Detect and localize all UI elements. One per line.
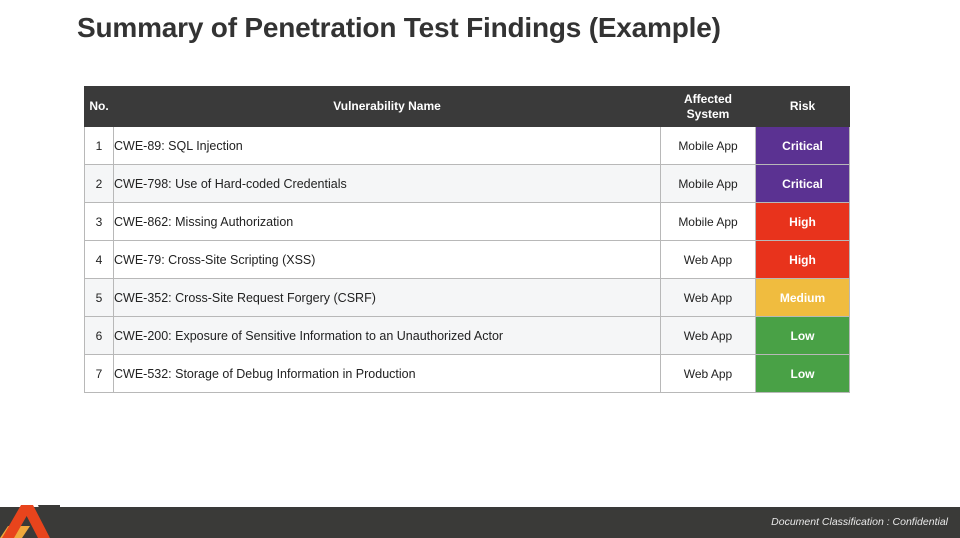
- table-row[interactable]: 4CWE-79: Cross-Site Scripting (XSS)Web A…: [85, 241, 850, 279]
- cell-affected-system: Web App: [661, 241, 756, 279]
- cell-affected-system: Web App: [661, 355, 756, 393]
- cell-vulnerability-name: CWE-200: Exposure of Sensitive Informati…: [114, 317, 661, 355]
- risk-badge: High: [756, 241, 850, 279]
- cell-no: 6: [85, 317, 114, 355]
- table-row[interactable]: 1CWE-89: SQL InjectionMobile AppCritical: [85, 127, 850, 165]
- table-header: No. Vulnerability Name Affected System R…: [85, 87, 850, 127]
- column-header-risk[interactable]: Risk: [756, 87, 850, 127]
- table-body: 1CWE-89: SQL InjectionMobile AppCritical…: [85, 127, 850, 393]
- findings-table-container: No. Vulnerability Name Affected System R…: [84, 86, 845, 393]
- column-header-affected-system-line2: System: [687, 107, 730, 121]
- cell-affected-system: Mobile App: [661, 127, 756, 165]
- table-header-row: No. Vulnerability Name Affected System R…: [85, 87, 850, 127]
- cell-vulnerability-name: CWE-89: SQL Injection: [114, 127, 661, 165]
- cell-no: 5: [85, 279, 114, 317]
- cell-vulnerability-name: CWE-79: Cross-Site Scripting (XSS): [114, 241, 661, 279]
- risk-badge: Low: [756, 355, 850, 393]
- column-header-affected-system[interactable]: Affected System: [661, 87, 756, 127]
- table-row[interactable]: 7CWE-532: Storage of Debug Information i…: [85, 355, 850, 393]
- cell-no: 7: [85, 355, 114, 393]
- cell-vulnerability-name: CWE-862: Missing Authorization: [114, 203, 661, 241]
- penetration-test-findings-table: No. Vulnerability Name Affected System R…: [84, 86, 850, 393]
- cell-affected-system: Mobile App: [661, 203, 756, 241]
- column-header-no[interactable]: No.: [85, 87, 114, 127]
- table-row[interactable]: 3CWE-862: Missing AuthorizationMobile Ap…: [85, 203, 850, 241]
- column-header-affected-system-line1: Affected: [684, 92, 732, 106]
- cell-vulnerability-name: CWE-798: Use of Hard-coded Credentials: [114, 165, 661, 203]
- column-header-vulnerability-name[interactable]: Vulnerability Name: [114, 87, 661, 127]
- cell-affected-system: Web App: [661, 279, 756, 317]
- table-row[interactable]: 6CWE-200: Exposure of Sensitive Informat…: [85, 317, 850, 355]
- cell-no: 1: [85, 127, 114, 165]
- cell-vulnerability-name: CWE-532: Storage of Debug Information in…: [114, 355, 661, 393]
- table-row[interactable]: 2CWE-798: Use of Hard-coded CredentialsM…: [85, 165, 850, 203]
- risk-badge: Critical: [756, 165, 850, 203]
- cell-affected-system: Mobile App: [661, 165, 756, 203]
- risk-badge: Critical: [756, 127, 850, 165]
- cell-affected-system: Web App: [661, 317, 756, 355]
- risk-badge: Medium: [756, 279, 850, 317]
- risk-badge: High: [756, 203, 850, 241]
- cell-no: 4: [85, 241, 114, 279]
- document-classification-note: Document Classification : Confidential: [771, 516, 948, 528]
- page-title: Summary of Penetration Test Findings (Ex…: [77, 12, 721, 44]
- risk-badge: Low: [756, 317, 850, 355]
- cell-no: 3: [85, 203, 114, 241]
- brand-chevron-logo: [0, 500, 60, 538]
- cell-vulnerability-name: CWE-352: Cross-Site Request Forgery (CSR…: [114, 279, 661, 317]
- cell-no: 2: [85, 165, 114, 203]
- table-row[interactable]: 5CWE-352: Cross-Site Request Forgery (CS…: [85, 279, 850, 317]
